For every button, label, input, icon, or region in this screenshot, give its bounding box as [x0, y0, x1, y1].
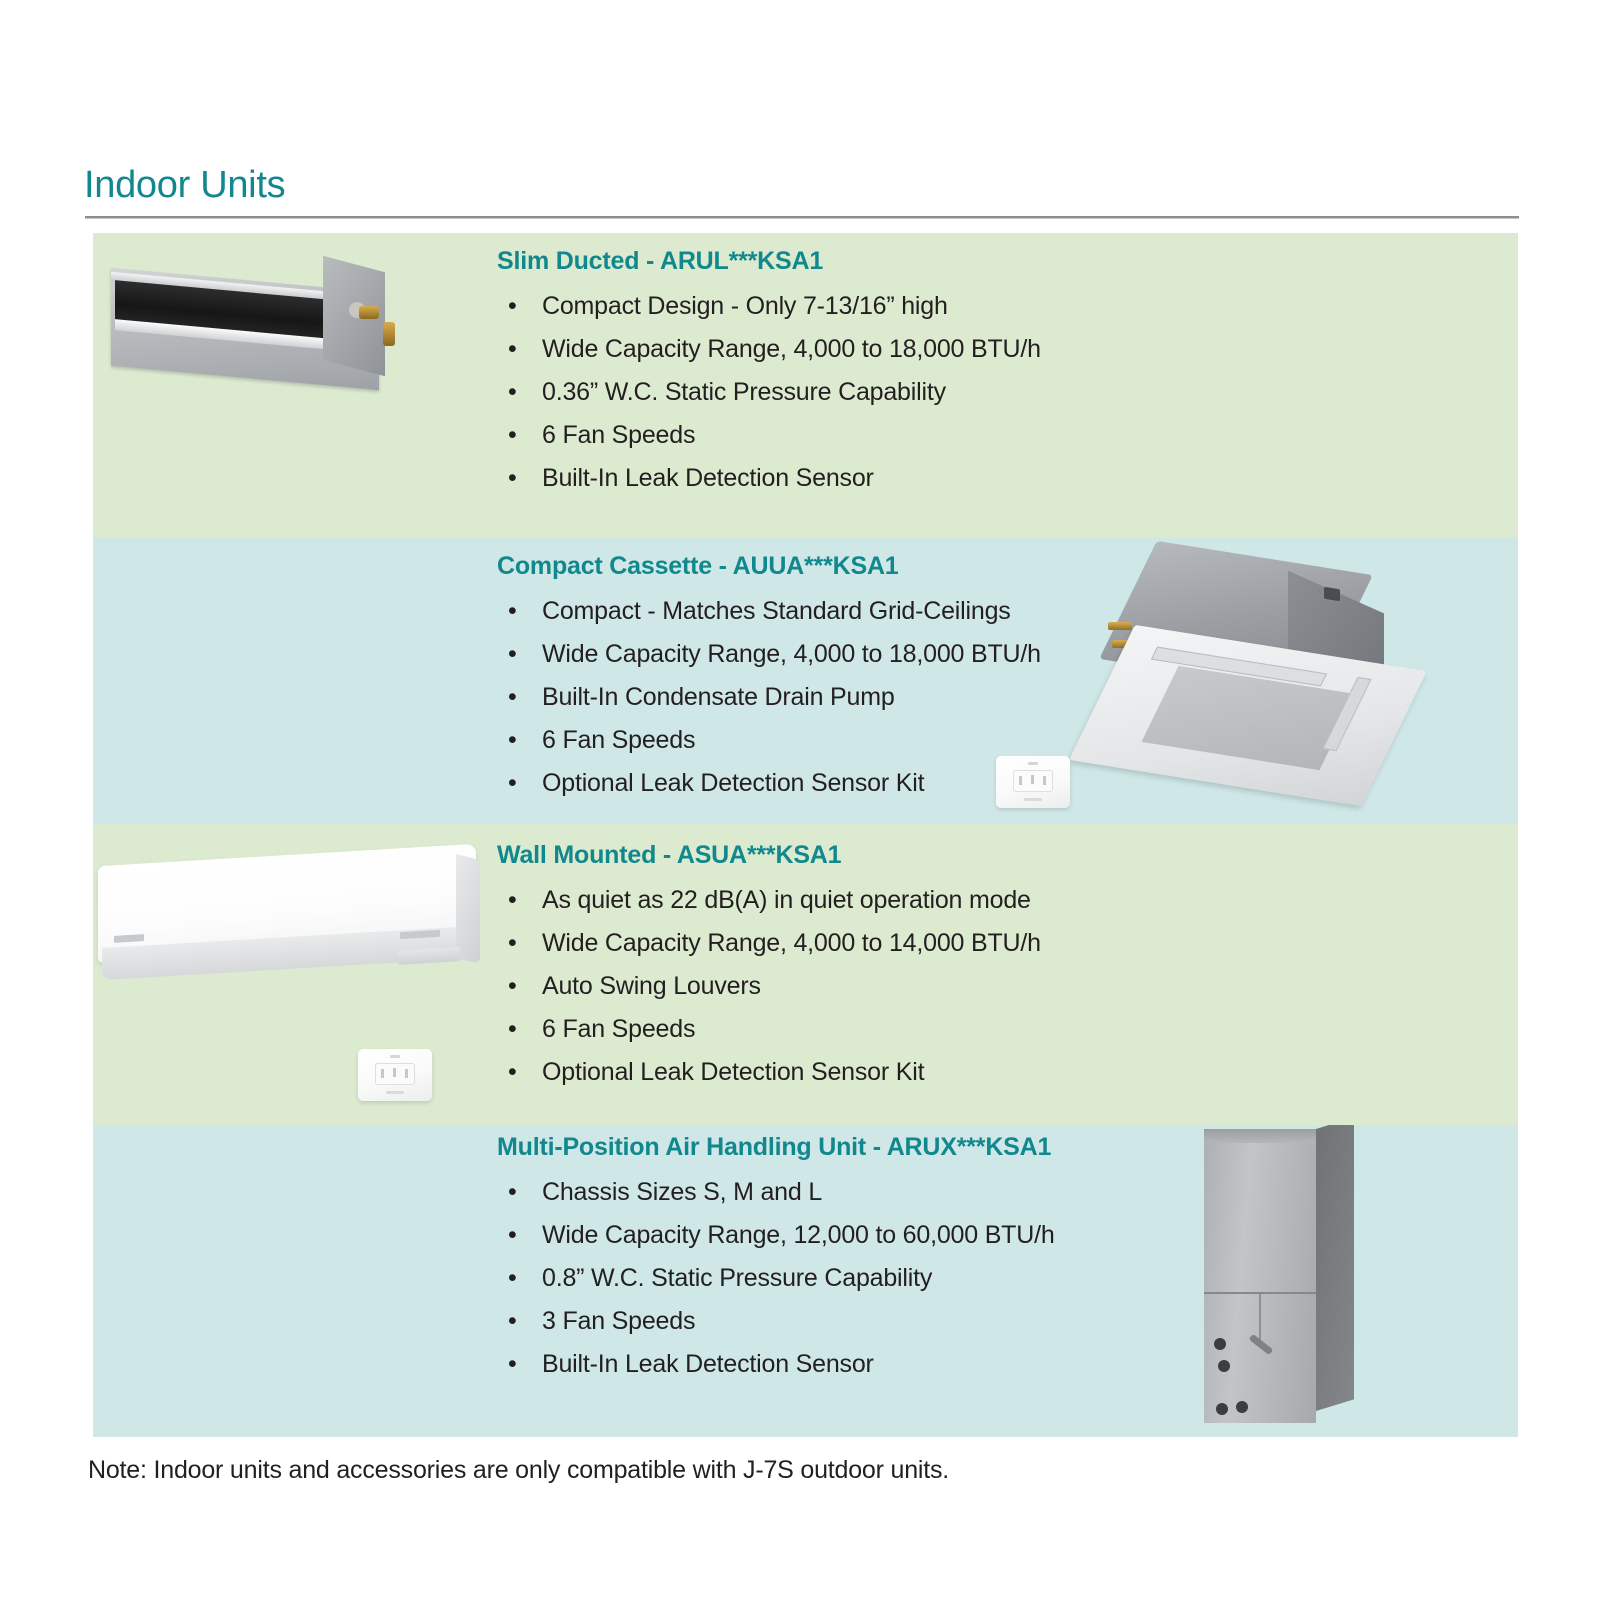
bullet-icon: • — [508, 1343, 517, 1386]
section-text-block: Slim Ducted - ARUL***KSA1 •Compact Desig… — [497, 247, 1041, 500]
list-item: •Compact - Matches Standard Grid-Ceiling… — [497, 590, 1041, 633]
title-divider — [85, 216, 1519, 219]
bullet-icon: • — [508, 328, 517, 371]
slim-ducted-unit-image — [111, 258, 436, 408]
bullet-icon: • — [508, 414, 517, 457]
bullet-icon: • — [508, 457, 517, 500]
feature-text: Built-In Leak Detection Sensor — [542, 464, 874, 492]
bullet-icon: • — [508, 633, 517, 676]
bullet-icon: • — [508, 1214, 517, 1257]
feature-text: 0.36” W.C. Static Pressure Capability — [542, 378, 946, 406]
section-title: Slim Ducted - ARUL***KSA1 — [497, 247, 1041, 276]
list-item: •Wide Capacity Range, 12,000 to 60,000 B… — [497, 1214, 1055, 1257]
feature-text: 3 Fan Speeds — [542, 1307, 695, 1335]
list-item: •As quiet as 22 dB(A) in quiet operation… — [497, 879, 1041, 922]
feature-text: 0.8” W.C. Static Pressure Capability — [542, 1264, 932, 1292]
bullet-icon: • — [508, 762, 517, 805]
feature-list: •As quiet as 22 dB(A) in quiet operation… — [497, 879, 1041, 1094]
list-item: •6 Fan Speeds — [497, 1008, 1041, 1051]
section-title: Wall Mounted - ASUA***KSA1 — [497, 841, 1041, 870]
compact-cassette-unit-image — [1102, 548, 1432, 793]
feature-text: Built-In Condensate Drain Pump — [542, 683, 895, 711]
feature-text: Wide Capacity Range, 4,000 to 18,000 BTU… — [542, 640, 1041, 668]
bullet-icon: • — [508, 879, 517, 922]
feature-text: Compact - Matches Standard Grid-Ceilings — [542, 597, 1011, 625]
list-item: •Auto Swing Louvers — [497, 965, 1041, 1008]
feature-list: •Compact Design - Only 7-13/16” high •Wi… — [497, 285, 1041, 500]
list-item: •6 Fan Speeds — [497, 719, 1041, 762]
bullet-icon: • — [508, 285, 517, 328]
feature-text: Compact Design - Only 7-13/16” high — [542, 292, 948, 320]
list-item: •Optional Leak Detection Sensor Kit — [497, 1051, 1041, 1094]
list-item: •0.8” W.C. Static Pressure Capability — [497, 1257, 1055, 1300]
list-item: •Wide Capacity Range, 4,000 to 18,000 BT… — [497, 328, 1041, 371]
feature-text: Wide Capacity Range, 12,000 to 60,000 BT… — [542, 1221, 1055, 1249]
section-text-block: Wall Mounted - ASUA***KSA1 •As quiet as … — [497, 841, 1041, 1094]
bullet-icon: • — [508, 1008, 517, 1051]
leak-detection-sensor-image — [358, 1049, 432, 1101]
list-item: •Built-In Leak Detection Sensor — [497, 457, 1041, 500]
bullet-icon: • — [508, 676, 517, 719]
page-title: Indoor Units — [84, 166, 285, 204]
bullet-icon: • — [508, 965, 517, 1008]
list-item: •Built-In Condensate Drain Pump — [497, 676, 1041, 719]
list-item: •0.36” W.C. Static Pressure Capability — [497, 371, 1041, 414]
section-slim-ducted: Slim Ducted - ARUL***KSA1 •Compact Desig… — [93, 233, 1518, 538]
bullet-icon: • — [508, 1171, 517, 1214]
list-item: •Optional Leak Detection Sensor Kit — [497, 762, 1041, 805]
section-text-block: Multi-Position Air Handling Unit - ARUX*… — [497, 1133, 1055, 1386]
feature-text: Built-In Leak Detection Sensor — [542, 1350, 874, 1378]
list-item: •Wide Capacity Range, 4,000 to 18,000 BT… — [497, 633, 1041, 676]
feature-text: Chassis Sizes S, M and L — [542, 1178, 822, 1206]
feature-text: As quiet as 22 dB(A) in quiet operation … — [542, 886, 1031, 914]
section-multi-position-air-handling-unit: Multi-Position Air Handling Unit - ARUX*… — [93, 1125, 1518, 1437]
section-compact-cassette: Compact Cassette - AUUA***KSA1 •Compact … — [93, 538, 1518, 823]
feature-list: •Chassis Sizes S, M and L •Wide Capacity… — [497, 1171, 1055, 1386]
wall-mounted-unit-image — [98, 845, 498, 1005]
feature-text: 6 Fan Speeds — [542, 726, 695, 754]
section-title: Compact Cassette - AUUA***KSA1 — [497, 552, 1041, 581]
section-text-block: Compact Cassette - AUUA***KSA1 •Compact … — [497, 552, 1041, 805]
bullet-icon: • — [508, 371, 517, 414]
feature-text: Optional Leak Detection Sensor Kit — [542, 1058, 924, 1086]
section-wall-mounted: Wall Mounted - ASUA***KSA1 •As quiet as … — [93, 823, 1518, 1125]
feature-list: •Compact - Matches Standard Grid-Ceiling… — [497, 590, 1041, 805]
bullet-icon: • — [508, 1257, 517, 1300]
air-handling-unit-image — [1204, 1129, 1384, 1429]
bullet-icon: • — [508, 719, 517, 762]
list-item: •6 Fan Speeds — [497, 414, 1041, 457]
feature-text: Wide Capacity Range, 4,000 to 18,000 BTU… — [542, 335, 1041, 363]
bullet-icon: • — [508, 1300, 517, 1343]
list-item: •3 Fan Speeds — [497, 1300, 1055, 1343]
list-item: •Compact Design - Only 7-13/16” high — [497, 285, 1041, 328]
bullet-icon: • — [508, 1051, 517, 1094]
feature-text: Wide Capacity Range, 4,000 to 14,000 BTU… — [542, 929, 1041, 957]
list-item: •Built-In Leak Detection Sensor — [497, 1343, 1055, 1386]
section-title: Multi-Position Air Handling Unit - ARUX*… — [497, 1133, 1055, 1162]
footer-note: Note: Indoor units and accessories are o… — [88, 1456, 949, 1485]
feature-text: 6 Fan Speeds — [542, 421, 695, 449]
list-item: •Chassis Sizes S, M and L — [497, 1171, 1055, 1214]
feature-text: 6 Fan Speeds — [542, 1015, 695, 1043]
feature-text: Auto Swing Louvers — [542, 972, 761, 1000]
bullet-icon: • — [508, 922, 517, 965]
feature-text: Optional Leak Detection Sensor Kit — [542, 769, 924, 797]
bullet-icon: • — [508, 590, 517, 633]
document-page: Indoor Units Slim Ducted - ARUL***KSA1 •… — [0, 0, 1600, 1600]
list-item: •Wide Capacity Range, 4,000 to 14,000 BT… — [497, 922, 1041, 965]
